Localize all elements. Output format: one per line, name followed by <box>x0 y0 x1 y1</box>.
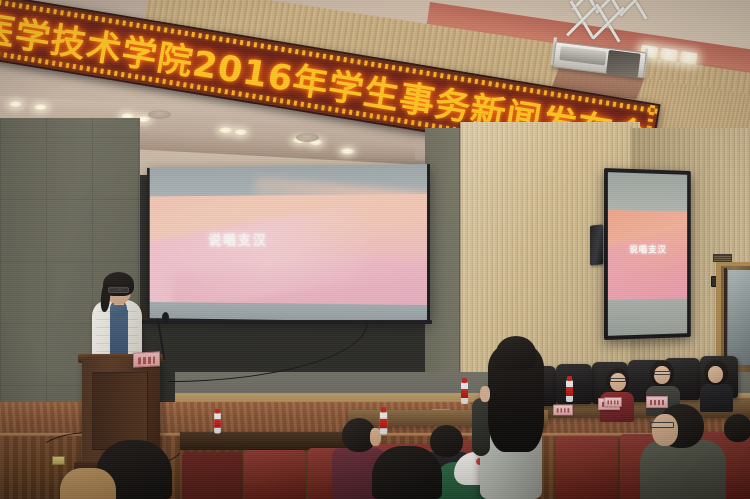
vip-person-glasses-icon <box>654 371 671 375</box>
bottle-cap <box>215 409 220 414</box>
led-panel-icon <box>679 51 698 66</box>
audience-person-face <box>652 414 678 446</box>
door-glass-panel <box>728 270 750 365</box>
right-vertical-display: 说唱支汉 <box>604 168 691 340</box>
water-bottle <box>214 413 221 434</box>
bottle-cap <box>381 407 386 412</box>
door-jamb <box>724 268 727 368</box>
vip-person-face <box>708 366 723 383</box>
downlight-icon <box>340 148 355 155</box>
display-calligraphy-text: 说唱支汉 <box>629 243 667 256</box>
microphone-icon <box>162 312 169 323</box>
audience-person-torso <box>60 468 116 499</box>
vip-person-face <box>610 373 626 391</box>
bottle-cap <box>462 378 467 383</box>
bottle-label <box>566 387 573 396</box>
audience-seat <box>182 452 242 499</box>
slide-artwork: 说唱支汉 <box>150 194 427 305</box>
display-slide-artwork: 说唱支汉 <box>608 210 687 300</box>
presenter-glasses-icon <box>108 287 129 293</box>
floor-tape-marker <box>52 456 65 465</box>
bottle-label <box>380 419 387 428</box>
bottle-label <box>214 419 221 428</box>
vip-person-torso <box>700 384 733 412</box>
water-bottle <box>461 382 468 404</box>
ceiling-speaker-icon <box>296 133 319 142</box>
desk-name-card <box>604 397 622 407</box>
display-letterbox-top <box>608 172 687 211</box>
slide-calligraphy-text: 说唱支汉 <box>208 231 267 250</box>
wall-vent-icon <box>713 254 732 262</box>
water-bottle <box>566 380 573 402</box>
audience-person-hair <box>372 446 442 499</box>
downlight-icon <box>218 127 233 134</box>
presenter-sweater <box>110 310 128 360</box>
desk-name-card <box>553 405 573 416</box>
display-letterbox-bottom <box>608 298 687 336</box>
bottle-label <box>461 389 468 398</box>
auditorium-photo: 医学技术学院2016年学生事务新闻发布会 说唱支汉 说唱支汉 <box>0 0 750 499</box>
audience-person-glasses-icon <box>650 422 674 428</box>
audience-person-hair <box>724 414 750 442</box>
water-bottle <box>380 411 387 434</box>
audience-seat <box>556 436 618 499</box>
vip-chair <box>556 364 592 404</box>
downlight-icon <box>8 101 23 108</box>
audience-person-hair <box>430 425 463 457</box>
standing-person-head <box>496 336 536 370</box>
projector-rear-panel <box>606 50 641 78</box>
downlight-icon <box>33 104 48 111</box>
standing-person-hand <box>480 386 490 402</box>
wall-speaker-icon <box>590 224 603 265</box>
bottle-cap <box>567 376 572 381</box>
audience-seat <box>244 450 306 499</box>
lectern-name-card <box>133 351 160 367</box>
ceiling-speaker-icon <box>148 110 171 119</box>
main-projection-screen: 说唱支汉 <box>147 164 430 322</box>
audience-person-torso <box>640 440 726 499</box>
downlight-icon <box>233 129 248 136</box>
lectern-front-panel <box>92 372 148 450</box>
screen-letterbox-bottom <box>150 302 427 322</box>
vip-person-glasses-icon <box>610 378 626 382</box>
desk-name-card <box>646 396 668 408</box>
vip-person-face <box>654 366 670 384</box>
